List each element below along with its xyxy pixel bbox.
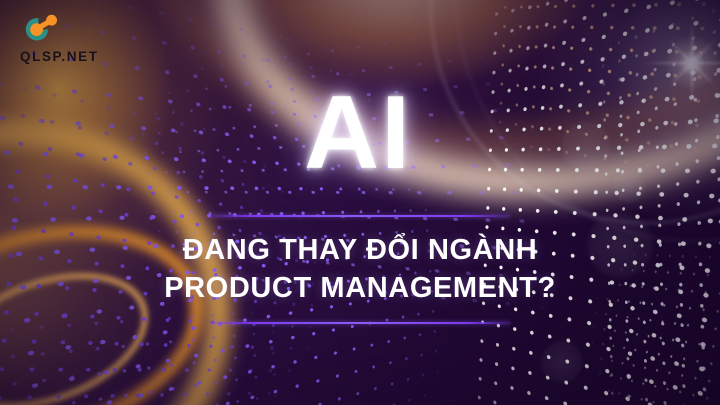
- subtitle-line-1: ĐANG THAY ĐỔI NGÀNH: [164, 232, 556, 270]
- poster-canvas: QLSP.NET AI ĐANG THAY ĐỔI NGÀNH PRODUCT …: [0, 0, 720, 405]
- hero-block: AI ĐANG THAY ĐỔI NGÀNH PRODUCT MANAGEMEN…: [0, 0, 720, 405]
- divider-line-bottom: [210, 322, 510, 324]
- page-subtitle: ĐANG THAY ĐỔI NGÀNH PRODUCT MANAGEMENT?: [164, 232, 556, 307]
- page-title: AI: [304, 81, 412, 185]
- subtitle-line-2: PRODUCT MANAGEMENT?: [164, 270, 556, 308]
- divider-line-top: [210, 215, 510, 217]
